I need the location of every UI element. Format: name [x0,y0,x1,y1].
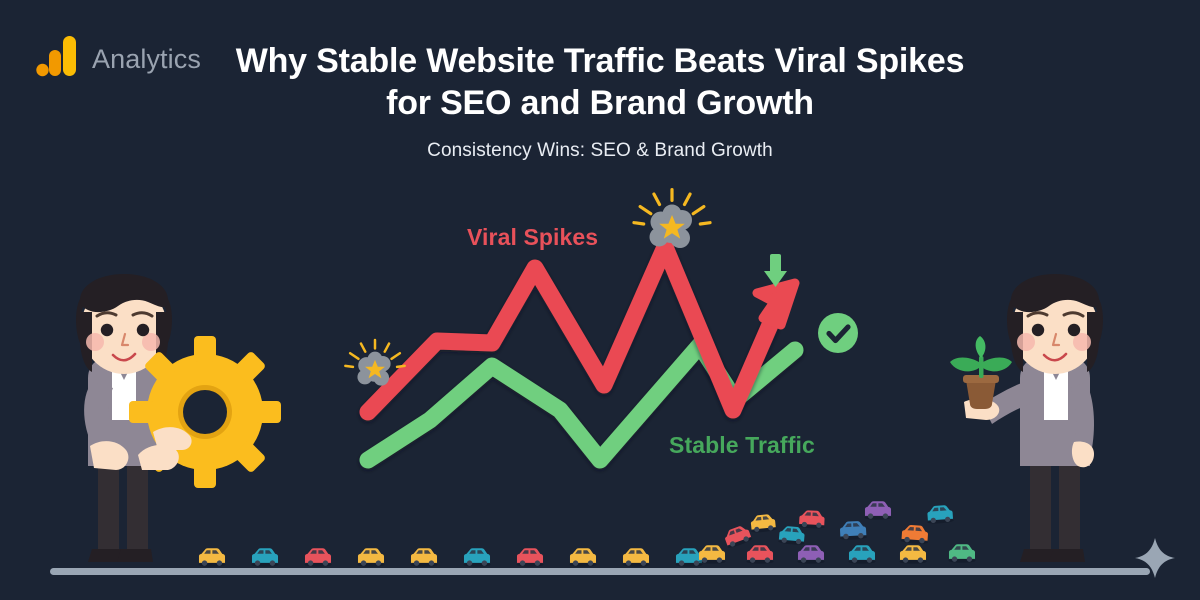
car-icon [797,545,824,563]
car-icon [198,548,225,567]
viral-spikes-line [368,247,783,412]
evenly-spaced-cars [198,548,702,567]
car-icon [410,548,437,566]
woman-holding-seedling [950,274,1103,562]
infographic-canvas: Analytics Why Stable Website Traffic Bea… [0,0,1200,600]
car-icon [622,548,649,566]
check-circle-icon [818,313,858,353]
car-icon [569,548,596,566]
road-line [50,568,1150,575]
car-icon [722,523,753,549]
car-icon [864,501,891,519]
viral-spikes-arrowhead [757,283,795,325]
car-icon [675,548,702,566]
car-icon [901,524,929,544]
car-icon [750,514,777,534]
car-icon [357,548,384,566]
car-icon [251,548,278,566]
illustration-layer [0,0,1200,600]
stable-traffic-label: Stable Traffic [669,432,815,459]
burst-star-cloud-icon [632,188,712,248]
car-icon [899,545,926,563]
woman-holding-gear [76,274,281,562]
chart-lines [368,247,795,460]
car-icon [698,545,725,563]
viral-spikes-label: Viral Spikes [467,224,598,251]
car-icon [778,525,806,545]
car-icon [948,544,975,562]
car-icon [304,548,331,566]
car-icon [848,545,875,563]
car-icon [839,521,867,541]
car-icon [463,548,490,566]
car-icon [746,545,773,563]
car-icon [516,548,543,566]
car-icon [798,510,825,529]
car-pileup-cluster [698,501,975,563]
car-icon [926,505,954,525]
